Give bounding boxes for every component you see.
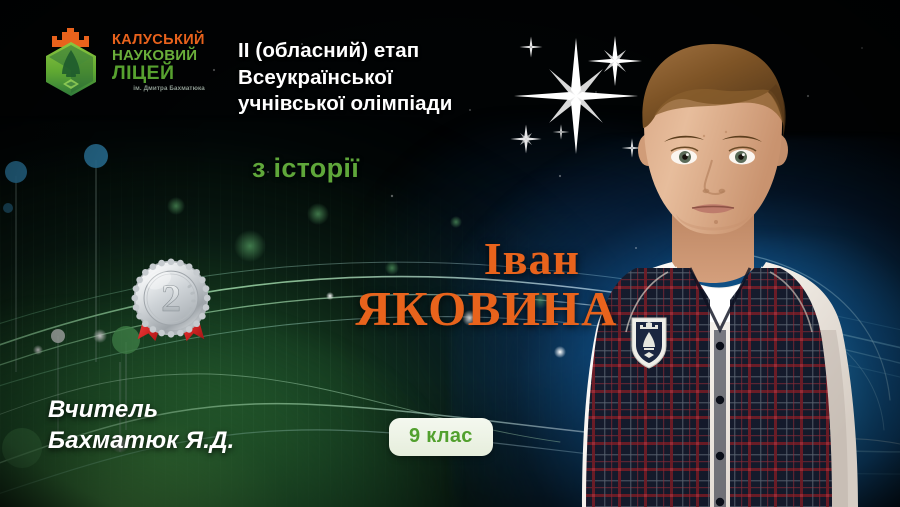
subject-label: з історії [252,153,359,184]
class-badge: 9 клас [389,418,493,456]
title-line-1: II (обласний) етап [238,38,568,65]
lyceum-crest-icon [38,26,104,100]
silver-medal-icon: 2 [122,251,220,349]
page-title: II (обласний) етап Всеукраїнської учнівс… [238,38,568,118]
lyceum-logo[interactable]: КАЛУСЬКИЙ НАУКОВИЙ ЛІЦЕЙ ім. Дмитра Бахм… [38,26,205,100]
teacher-role: Вчитель [48,394,234,425]
title-line-2: Всеукраїнської [238,65,568,92]
student-family-name: ЯКОВИНА [355,284,618,334]
logo-line-1: КАЛУСЬКИЙ [112,33,205,47]
logo-line-4: ім. Дмитра Бахматюка [112,86,205,92]
teacher-block: Вчитель Бахматюк Я.Д. [48,394,234,456]
logo-line-3: ЛІЦЕЙ [112,64,205,83]
teacher-name: Бахматюк Я.Д. [48,425,234,456]
announcement-card: КАЛУСЬКИЙ НАУКОВИЙ ЛІЦЕЙ ім. Дмитра Бахм… [0,0,900,507]
student-given-name: Іван [355,236,580,282]
title-line-3: учнівської олімпіади [238,91,568,118]
student-name: Іван ЯКОВИНА [355,236,580,334]
